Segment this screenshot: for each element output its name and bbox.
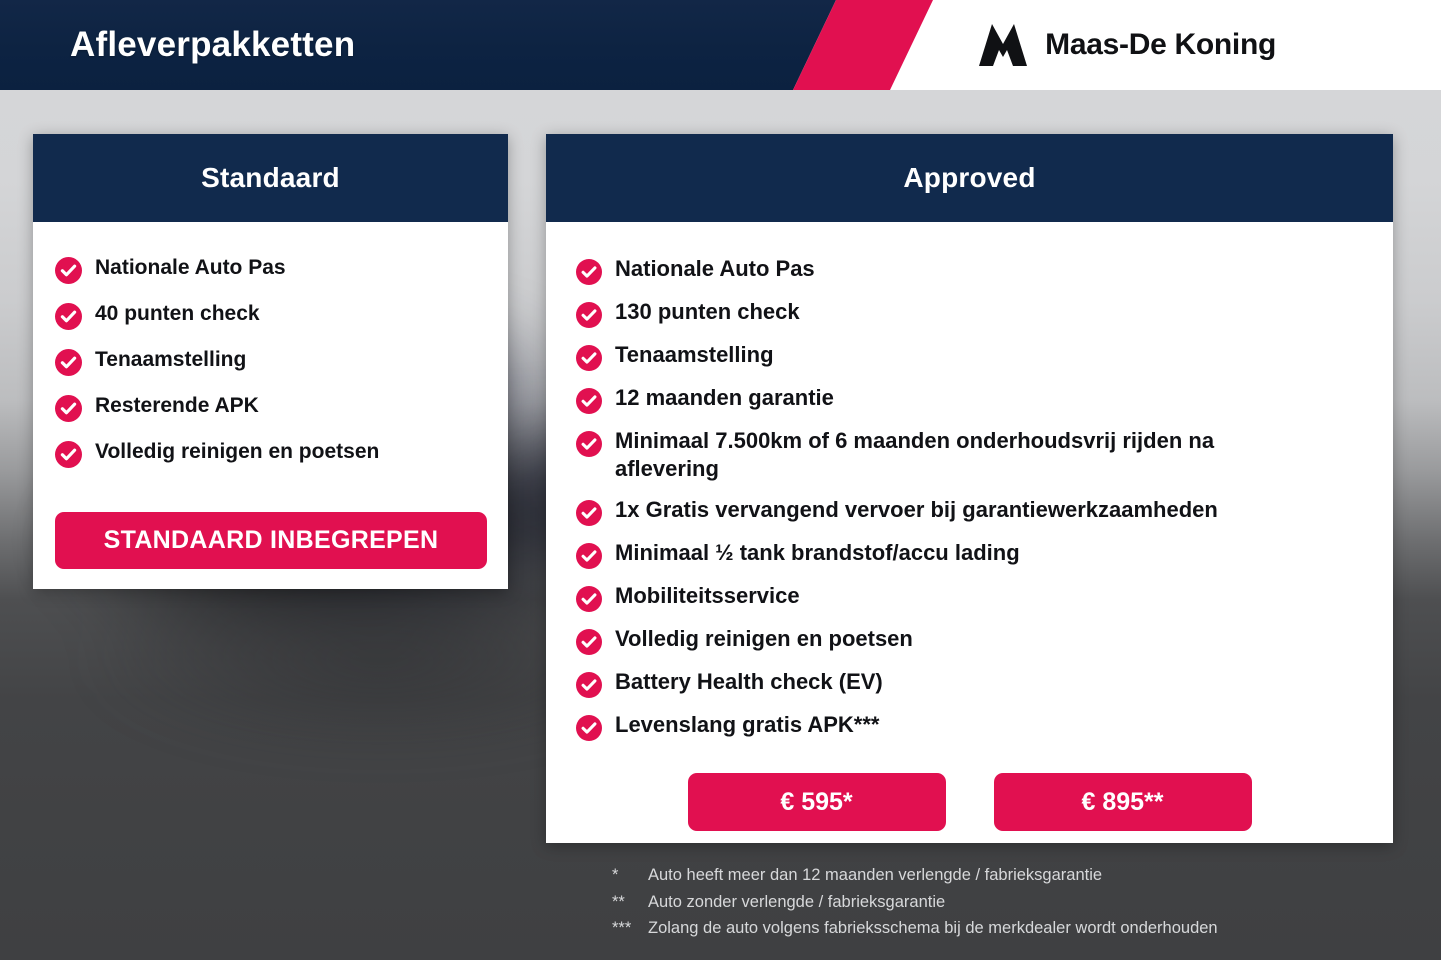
check-circle-icon — [576, 259, 602, 285]
card-title-approved: Approved — [546, 134, 1393, 222]
check-circle-icon — [55, 303, 82, 330]
list-item: Nationale Auto Pas — [576, 255, 1393, 285]
footnotes: * Auto heeft meer dan 12 maanden verleng… — [612, 862, 1412, 942]
feature-label: Tenaamstelling — [615, 341, 774, 369]
check-circle-icon — [576, 302, 602, 328]
list-item: Mobiliteitsservice — [576, 582, 1393, 612]
check-circle-icon — [576, 586, 602, 612]
footnote-row: * Auto heeft meer dan 12 maanden verleng… — [612, 862, 1412, 889]
poster-canvas: Afleverpakketten Maas-De Koning Standaar… — [0, 0, 1441, 960]
footnote-text: Auto heeft meer dan 12 maanden verlengde… — [648, 862, 1412, 889]
footnote-row: ** Auto zonder verlengde / fabrieksgaran… — [612, 889, 1412, 916]
list-item: Nationale Auto Pas — [55, 255, 508, 284]
feature-label: 40 punten check — [95, 301, 260, 328]
check-circle-icon — [55, 349, 82, 376]
card-body-approved: Nationale Auto Pas 130 punten check Tena… — [546, 222, 1393, 831]
check-circle-icon — [576, 543, 602, 569]
list-item: Minimaal ½ tank brandstof/accu lading — [576, 539, 1393, 569]
feature-label: Mobiliteitsservice — [615, 582, 800, 610]
feature-list-standaard: Nationale Auto Pas 40 punten check Tenaa… — [33, 222, 508, 468]
page-title: Afleverpakketten — [70, 0, 355, 90]
check-circle-icon — [55, 441, 82, 468]
feature-list-approved: Nationale Auto Pas 130 punten check Tena… — [546, 222, 1393, 741]
check-circle-icon — [576, 431, 602, 457]
list-item: Tenaamstelling — [576, 341, 1393, 371]
feature-label: Minimaal ½ tank brandstof/accu lading — [615, 539, 1020, 567]
feature-label: Minimaal 7.500km of 6 maanden onderhouds… — [615, 427, 1275, 483]
price-button-895[interactable]: € 895** — [994, 773, 1252, 831]
check-circle-icon — [576, 388, 602, 414]
feature-label: 1x Gratis vervangend vervoer bij garanti… — [615, 496, 1218, 524]
check-circle-icon — [576, 500, 602, 526]
standaard-inbegrepen-button[interactable]: STANDAARD INBEGREPEN — [55, 512, 487, 569]
list-item: Tenaamstelling — [55, 347, 508, 376]
price-button-595[interactable]: € 595* — [688, 773, 946, 831]
package-card-standaard: Standaard Nationale Auto Pas 40 punten c… — [33, 134, 508, 589]
feature-label: Battery Health check (EV) — [615, 668, 883, 696]
list-item: Levenslang gratis APK*** — [576, 711, 1393, 741]
maas-de-koning-m-logo-icon — [977, 22, 1029, 68]
price-button-row: € 595* € 895** — [546, 754, 1393, 831]
footnote-row: *** Zolang de auto volgens fabrieksschem… — [612, 915, 1412, 942]
feature-label: Levenslang gratis APK*** — [615, 711, 880, 739]
footnote-marker: * — [612, 862, 648, 889]
list-item: 40 punten check — [55, 301, 508, 330]
card-title-standaard: Standaard — [33, 134, 508, 222]
list-item: 12 maanden garantie — [576, 384, 1393, 414]
feature-label: 12 maanden garantie — [615, 384, 834, 412]
feature-label: Volledig reinigen en poetsen — [615, 625, 913, 653]
feature-label: 130 punten check — [615, 298, 800, 326]
package-card-approved: Approved Nationale Auto Pas 130 punten c… — [546, 134, 1393, 843]
check-circle-icon — [55, 395, 82, 422]
list-item: Resterende APK — [55, 393, 508, 422]
feature-label: Nationale Auto Pas — [615, 255, 815, 283]
list-item: Volledig reinigen en poetsen — [55, 439, 508, 468]
brand-name: Maas-De Koning — [1045, 28, 1276, 62]
list-item: Volledig reinigen en poetsen — [576, 625, 1393, 655]
footnote-text: Zolang de auto volgens fabrieksschema bi… — [648, 915, 1412, 942]
check-circle-icon — [576, 672, 602, 698]
feature-label: Volledig reinigen en poetsen — [95, 439, 379, 466]
list-item: 130 punten check — [576, 298, 1393, 328]
footnote-marker: *** — [612, 915, 648, 942]
card-body-standaard: Nationale Auto Pas 40 punten check Tenaa… — [33, 222, 508, 569]
list-item: Battery Health check (EV) — [576, 668, 1393, 698]
page-header: Afleverpakketten Maas-De Koning — [0, 0, 1441, 90]
list-item: Minimaal 7.500km of 6 maanden onderhouds… — [576, 427, 1393, 483]
check-circle-icon — [576, 345, 602, 371]
brand-lockup: Maas-De Koning — [977, 0, 1276, 90]
list-item: 1x Gratis vervangend vervoer bij garanti… — [576, 496, 1393, 526]
footnote-text: Auto zonder verlengde / fabrieksgarantie — [648, 889, 1412, 916]
check-circle-icon — [576, 715, 602, 741]
feature-label: Tenaamstelling — [95, 347, 246, 374]
check-circle-icon — [55, 257, 82, 284]
feature-label: Resterende APK — [95, 393, 259, 420]
check-circle-icon — [576, 629, 602, 655]
standaard-cta-wrap: STANDAARD INBEGREPEN — [33, 485, 508, 569]
feature-label: Nationale Auto Pas — [95, 255, 286, 282]
footnote-marker: ** — [612, 889, 648, 916]
